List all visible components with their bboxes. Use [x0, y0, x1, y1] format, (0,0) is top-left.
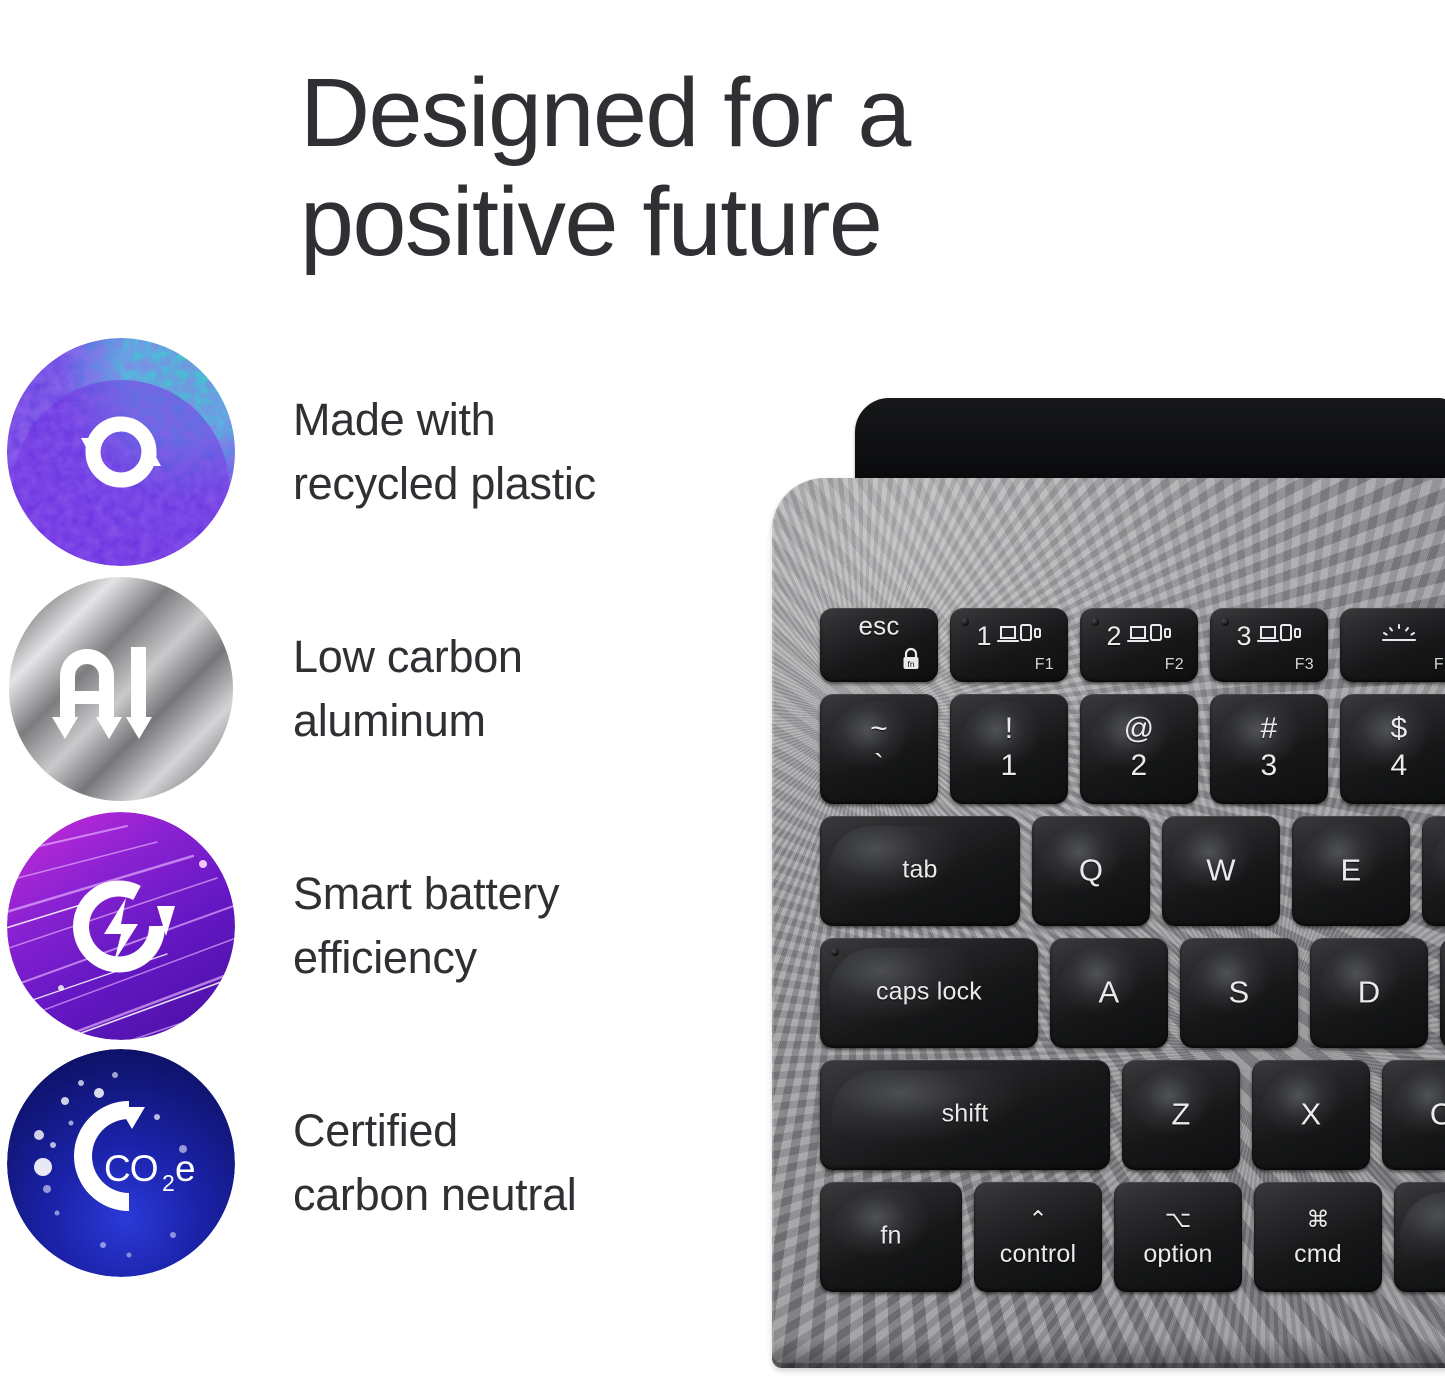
key-modifier-symbol: ⌘ — [1254, 1206, 1382, 1233]
key-label: fn — [820, 1221, 962, 1250]
key-label-shifted: ! — [950, 712, 1068, 746]
feature-list: Made with recycled plastic — [0, 333, 740, 1281]
key-f2[interactable]: 2F2 — [1080, 608, 1198, 682]
key-label: W — [1162, 852, 1280, 888]
svg-text:2: 2 — [162, 1170, 175, 1196]
carbon-neutral-icon: CO 2 e — [7, 1049, 235, 1277]
key-option[interactable]: ⌥option — [1114, 1182, 1242, 1292]
feature-item-low-carbon-aluminum: Low carbon aluminum — [0, 570, 740, 807]
easy-switch-devices-icon: 3 — [1210, 622, 1328, 651]
key-label: R — [1422, 852, 1445, 888]
key-four[interactable]: $4 — [1340, 694, 1445, 804]
key-modifier-symbol: ⌃ — [974, 1206, 1102, 1233]
key-label-shifted: ~ — [820, 712, 938, 746]
key-label: cmd — [1254, 1240, 1382, 1269]
key-label: option — [1114, 1240, 1242, 1269]
key-label-shifted: # — [1210, 712, 1328, 746]
key-f3[interactable]: 3F3 — [1210, 608, 1328, 682]
fn-lock-icon: fn — [900, 647, 922, 671]
feature-label: Certified carbon neutral — [293, 1099, 577, 1227]
key-channel-number: 3 — [1236, 623, 1251, 650]
feature-label: Made with recycled plastic — [293, 388, 596, 516]
recycling-arrows-icon — [7, 338, 235, 566]
key-fn-tag: F2 — [1165, 656, 1184, 674]
key-label: S — [1180, 974, 1298, 1010]
key-q[interactable]: Q — [1032, 816, 1150, 926]
backlight-icon-glyph — [1379, 622, 1419, 649]
backlight-icon — [1340, 622, 1445, 649]
key-s[interactable]: S — [1180, 938, 1298, 1048]
feature-label: Smart battery efficiency — [293, 862, 559, 990]
key-fn-tag: F1 — [1035, 656, 1054, 674]
key-space[interactable] — [1394, 1182, 1445, 1292]
key-label: shift — [820, 1099, 1110, 1128]
key-fn[interactable]: fn — [820, 1182, 962, 1292]
key-label: X — [1252, 1096, 1370, 1132]
key-label: caps lock — [820, 977, 1038, 1006]
key-channel-number: 1 — [976, 623, 991, 650]
key-a[interactable]: A — [1050, 938, 1168, 1048]
key-f4[interactable]: F — [1340, 608, 1445, 682]
key-one[interactable]: !1 — [950, 694, 1068, 804]
key-label: esc — [820, 610, 938, 641]
keyboard-product-image: escfn1F12F23F3F~`!1@2#3$4tabQWERcaps loc… — [760, 380, 1445, 1386]
svg-text:CO: CO — [104, 1148, 158, 1189]
key-led-indicator — [1221, 618, 1229, 626]
key-label: D — [1310, 974, 1428, 1010]
key-e[interactable]: E — [1292, 816, 1410, 926]
feature-item-recycled-plastic: Made with recycled plastic — [0, 333, 740, 570]
key-two[interactable]: @2 — [1080, 694, 1198, 804]
key-fn-tag: F3 — [1295, 656, 1314, 674]
key-r[interactable]: R — [1422, 816, 1445, 926]
key-z[interactable]: Z — [1122, 1060, 1240, 1170]
keycap-layer: escfn1F12F23F3F~`!1@2#3$4tabQWERcaps loc… — [772, 478, 1445, 1368]
key-d[interactable]: D — [1310, 938, 1428, 1048]
easy-switch-devices-icon-glyph — [1256, 622, 1302, 651]
key-tilde[interactable]: ~` — [820, 694, 938, 804]
key-label: F — [1440, 974, 1445, 1010]
key-x[interactable]: X — [1252, 1060, 1370, 1170]
key-fn-tag: F — [1434, 656, 1444, 674]
key-f1[interactable]: 1F1 — [950, 608, 1068, 682]
page-title: Designed for a positive future — [300, 59, 1120, 276]
feature-item-smart-battery: Smart battery efficiency — [0, 807, 740, 1044]
key-label: 3 — [1210, 749, 1328, 783]
easy-switch-devices-icon-glyph — [996, 622, 1042, 651]
key-label: E — [1292, 852, 1410, 888]
key-label: 4 — [1340, 749, 1445, 783]
key-led-indicator — [1091, 618, 1099, 626]
key-label: control — [974, 1240, 1102, 1269]
key-esc[interactable]: escfn — [820, 608, 938, 682]
key-channel-number: 2 — [1106, 623, 1121, 650]
key-label: A — [1050, 974, 1168, 1010]
key-shift[interactable]: shift — [820, 1060, 1110, 1170]
key-label: 2 — [1080, 749, 1198, 783]
key-led-indicator — [961, 618, 969, 626]
key-label: Z — [1122, 1096, 1240, 1132]
key-label: ` — [820, 749, 938, 783]
feature-label: Low carbon aluminum — [293, 625, 523, 753]
feature-item-carbon-neutral: CO 2 e Certified carbon neutral — [0, 1044, 740, 1281]
key-c[interactable]: C — [1382, 1060, 1445, 1170]
key-control[interactable]: ⌃control — [974, 1182, 1102, 1292]
easy-switch-devices-icon-glyph — [1126, 622, 1172, 651]
svg-text:e: e — [175, 1148, 196, 1189]
key-tab[interactable]: tab — [820, 816, 1020, 926]
key-label-shifted: $ — [1340, 712, 1445, 746]
key-three[interactable]: #3 — [1210, 694, 1328, 804]
key-label: Q — [1032, 852, 1150, 888]
key-cmd[interactable]: ⌘cmd — [1254, 1182, 1382, 1292]
key-label: 1 — [950, 749, 1068, 783]
keyboard-aluminum-deck: escfn1F12F23F3F~`!1@2#3$4tabQWERcaps loc… — [772, 478, 1445, 1368]
key-label: C — [1382, 1096, 1445, 1132]
key-f[interactable]: F — [1440, 938, 1445, 1048]
key-caps-lock[interactable]: caps lock — [820, 938, 1038, 1048]
svg-text:fn: fn — [907, 659, 914, 669]
key-w[interactable]: W — [1162, 816, 1280, 926]
key-modifier-symbol: ⌥ — [1114, 1206, 1242, 1233]
aluminum-down-arrows-icon — [7, 575, 235, 803]
key-label: tab — [820, 855, 1020, 884]
product-feature-panel: Designed for a positive future — [0, 0, 1445, 1386]
key-label-shifted: @ — [1080, 712, 1198, 746]
battery-bolt-cycle-icon — [7, 812, 235, 1040]
key-led-indicator — [831, 948, 839, 956]
easy-switch-devices-icon: 2 — [1080, 622, 1198, 651]
easy-switch-devices-icon: 1 — [950, 622, 1068, 651]
